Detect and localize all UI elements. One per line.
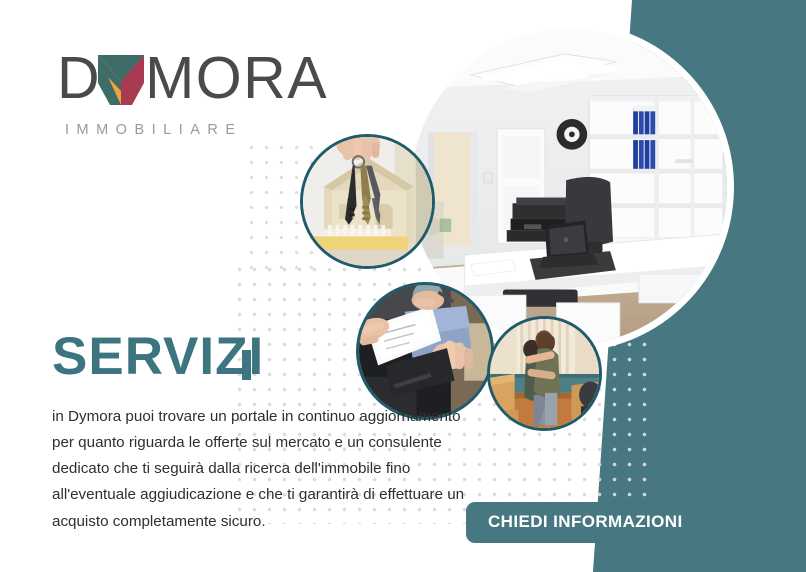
logo-y-triangle-icon bbox=[98, 53, 144, 105]
logo-letter-d: D bbox=[57, 49, 101, 108]
logo-wordmark: D MORA bbox=[57, 48, 328, 108]
page-title: SERVIZI bbox=[52, 330, 264, 383]
logo-tagline: IMMOBILIARE bbox=[65, 122, 328, 138]
brand-logo[interactable]: D MORA IMMOBILIARE bbox=[57, 48, 328, 138]
poster-canvas: D MORA IMMOBILIARE bbox=[0, 0, 806, 572]
photo-documents-signing bbox=[356, 282, 494, 420]
request-information-button[interactable]: CHIEDI INFORMAZIONI bbox=[466, 502, 705, 543]
body-paragraph: in Dymora puoi trovare un portale in con… bbox=[52, 404, 482, 535]
photo-house-keys bbox=[300, 134, 435, 269]
photo-couple-celebrating bbox=[487, 316, 602, 431]
logo-letters-mora: MORA bbox=[145, 49, 328, 108]
